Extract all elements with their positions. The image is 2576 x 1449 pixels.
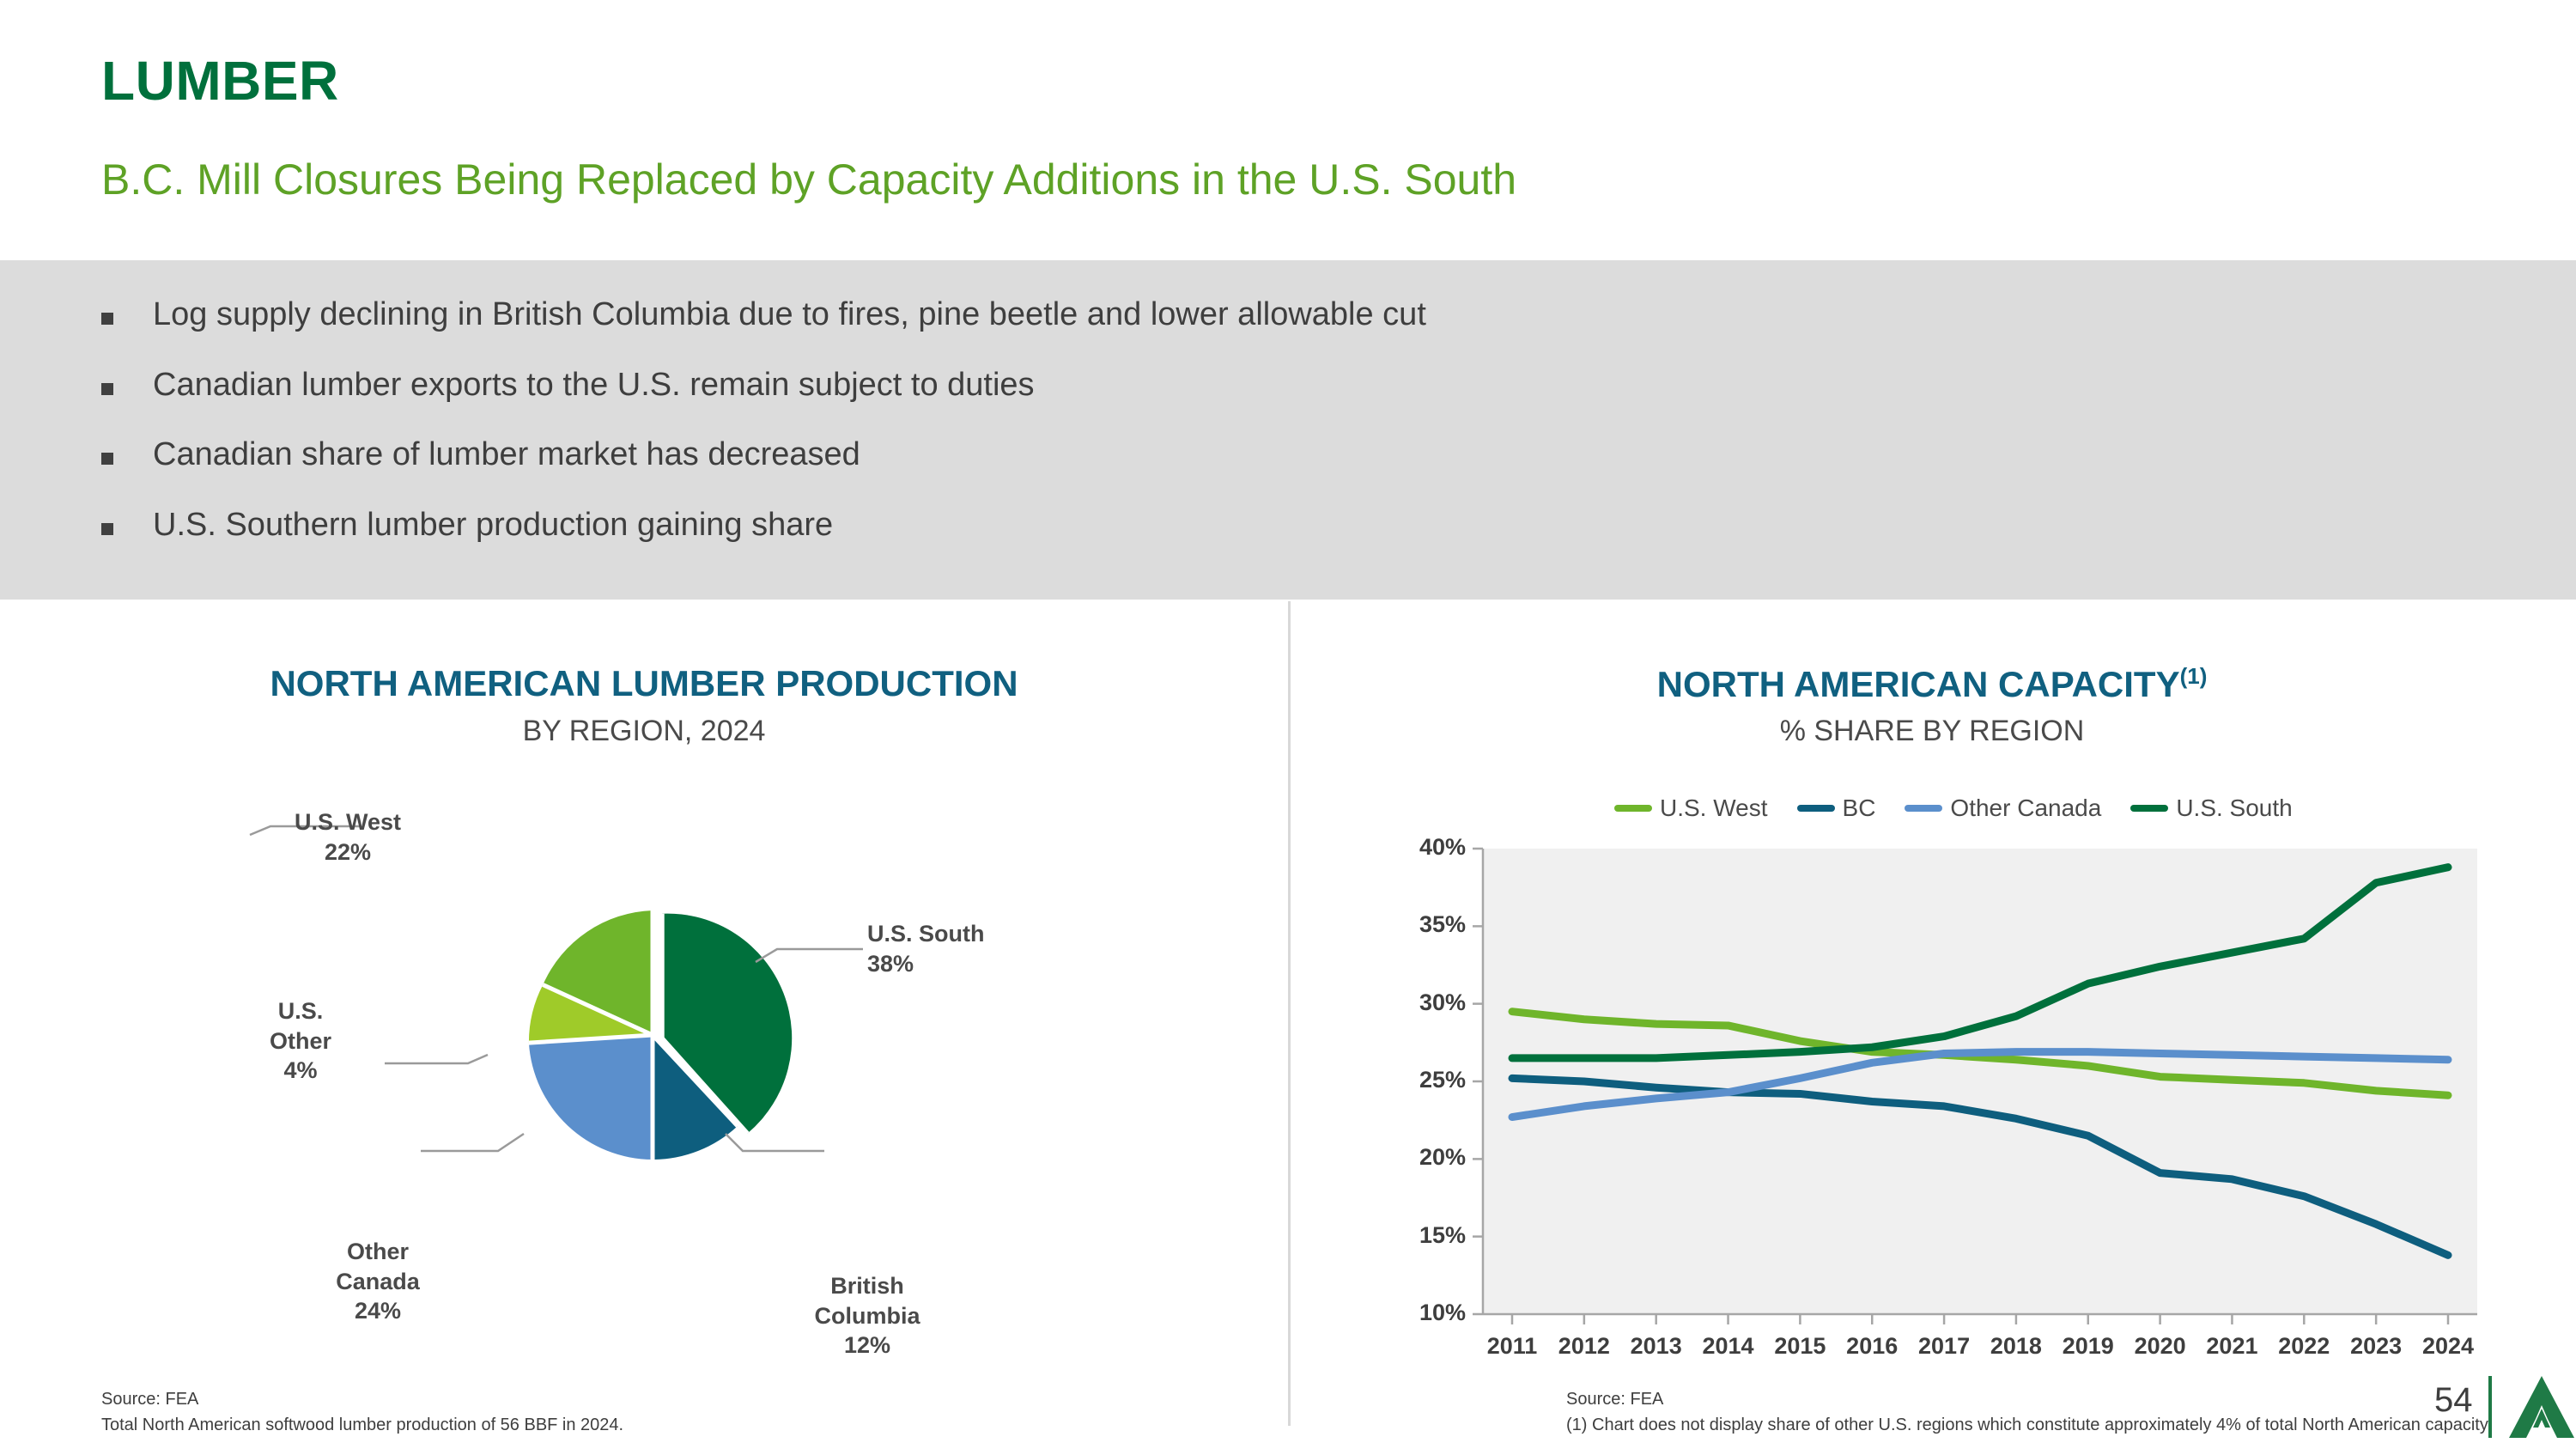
pie-label-value: 12% [756, 1330, 979, 1361]
x-axis-tick-label: 2022 [2267, 1333, 2341, 1360]
x-axis-tick-label: 2011 [1475, 1333, 1549, 1360]
lumber-production-panel: NORTH AMERICAN LUMBER PRODUCTION BY REGI… [0, 0, 1288, 1449]
x-axis-tick-label: 2020 [2123, 1333, 2197, 1360]
right-source-line2: (1) Chart does not display share of othe… [1566, 1413, 2492, 1438]
pie-label-us-west: U.S. West 22% [249, 807, 447, 867]
pie-label-value: 38% [867, 949, 1082, 979]
pie-label-name: U.S. West [249, 807, 447, 837]
pie-chart-subtitle: BY REGION, 2024 [0, 715, 1288, 748]
weyerhaeuser-logo-icon [2507, 1374, 2576, 1446]
y-axis-tick-label: 30% [1387, 989, 1466, 1016]
pie-label-value: 24% [283, 1296, 472, 1326]
pie-label-british-columbia: British Columbia 12% [756, 1271, 979, 1361]
footer-rule [2488, 1376, 2492, 1438]
pie-label-other-canada: Other Canada 24% [283, 1237, 472, 1326]
chart-legend: U.S. West BC Other Canada U.S. South [1614, 795, 2293, 822]
legend-label: BC [1843, 795, 1876, 822]
legend-item-bc[interactable]: BC [1797, 795, 1876, 822]
legend-item-us-south[interactable]: U.S. South [2130, 795, 2292, 822]
legend-swatch-icon [1905, 805, 1942, 812]
y-axis-tick-label: 15% [1387, 1222, 1466, 1249]
slide: LUMBER B.C. Mill Closures Being Replaced… [0, 0, 2576, 1449]
x-axis-tick-label: 2015 [1763, 1333, 1837, 1360]
legend-label: Other Canada [1950, 795, 2101, 822]
legend-swatch-icon [2130, 805, 2168, 812]
legend-swatch-icon [1614, 805, 1652, 812]
pie-label-name-line1: British [756, 1271, 979, 1301]
pie-label-value: 4% [215, 1056, 386, 1086]
y-axis-tick-label: 20% [1387, 1144, 1466, 1171]
pie-chart [0, 790, 1288, 1443]
legend-label: U.S. West [1660, 795, 1768, 822]
line-chart-title-text: NORTH AMERICAN CAPACITY [1657, 664, 2180, 704]
pie-label-name: U.S. South [867, 919, 1082, 949]
pie-label-us-other: U.S. Other 4% [215, 996, 386, 1086]
x-axis-tick-label: 2016 [1835, 1333, 1909, 1360]
left-source-line1: Source: FEA [101, 1387, 198, 1412]
footnote-marker: (1) [2180, 663, 2208, 689]
right-source-line1: Source: FEA [1566, 1387, 1663, 1412]
x-axis-tick-label: 2021 [2195, 1333, 2269, 1360]
y-axis-tick-label: 10% [1387, 1300, 1466, 1326]
pie-label-name-line1: Other [283, 1237, 472, 1267]
pie-slice-other-canada [529, 1035, 653, 1160]
legend-item-us-west[interactable]: U.S. West [1614, 795, 1768, 822]
pie-label-name-line2: Columbia [756, 1301, 979, 1331]
pie-label-us-south: U.S. South 38% [867, 919, 1082, 978]
legend-swatch-icon [1797, 805, 1835, 812]
x-axis-tick-label: 2023 [2339, 1333, 2413, 1360]
x-axis-tick-label: 2012 [1547, 1333, 1621, 1360]
legend-item-other-canada[interactable]: Other Canada [1905, 795, 2101, 822]
x-axis-tick-label: 2013 [1619, 1333, 1693, 1360]
left-source-line2: Total North American softwood lumber pro… [101, 1413, 623, 1438]
capacity-line-chart [1408, 829, 2490, 1361]
pie-label-name-line2: Other [215, 1026, 386, 1056]
x-axis-tick-label: 2024 [2411, 1333, 2485, 1360]
legend-label: U.S. South [2176, 795, 2292, 822]
pie-chart-title: NORTH AMERICAN LUMBER PRODUCTION [0, 663, 1288, 704]
y-axis-tick-label: 25% [1387, 1067, 1466, 1093]
pie-label-name-line2: Canada [283, 1267, 472, 1297]
y-axis-tick-label: 40% [1387, 834, 1466, 861]
page-number: 54 [2434, 1381, 2473, 1420]
y-axis-tick-label: 35% [1387, 911, 1466, 938]
line-chart-title: NORTH AMERICAN CAPACITY(1) [1288, 663, 2576, 705]
pie-label-value: 22% [249, 837, 447, 868]
pie-label-name-line1: U.S. [215, 996, 386, 1026]
x-axis-tick-label: 2017 [1907, 1333, 1981, 1360]
x-axis-tick-label: 2018 [1979, 1333, 2053, 1360]
x-axis-tick-label: 2019 [2051, 1333, 2125, 1360]
line-chart-subtitle: % SHARE BY REGION [1288, 715, 2576, 748]
x-axis-tick-label: 2014 [1692, 1333, 1765, 1360]
